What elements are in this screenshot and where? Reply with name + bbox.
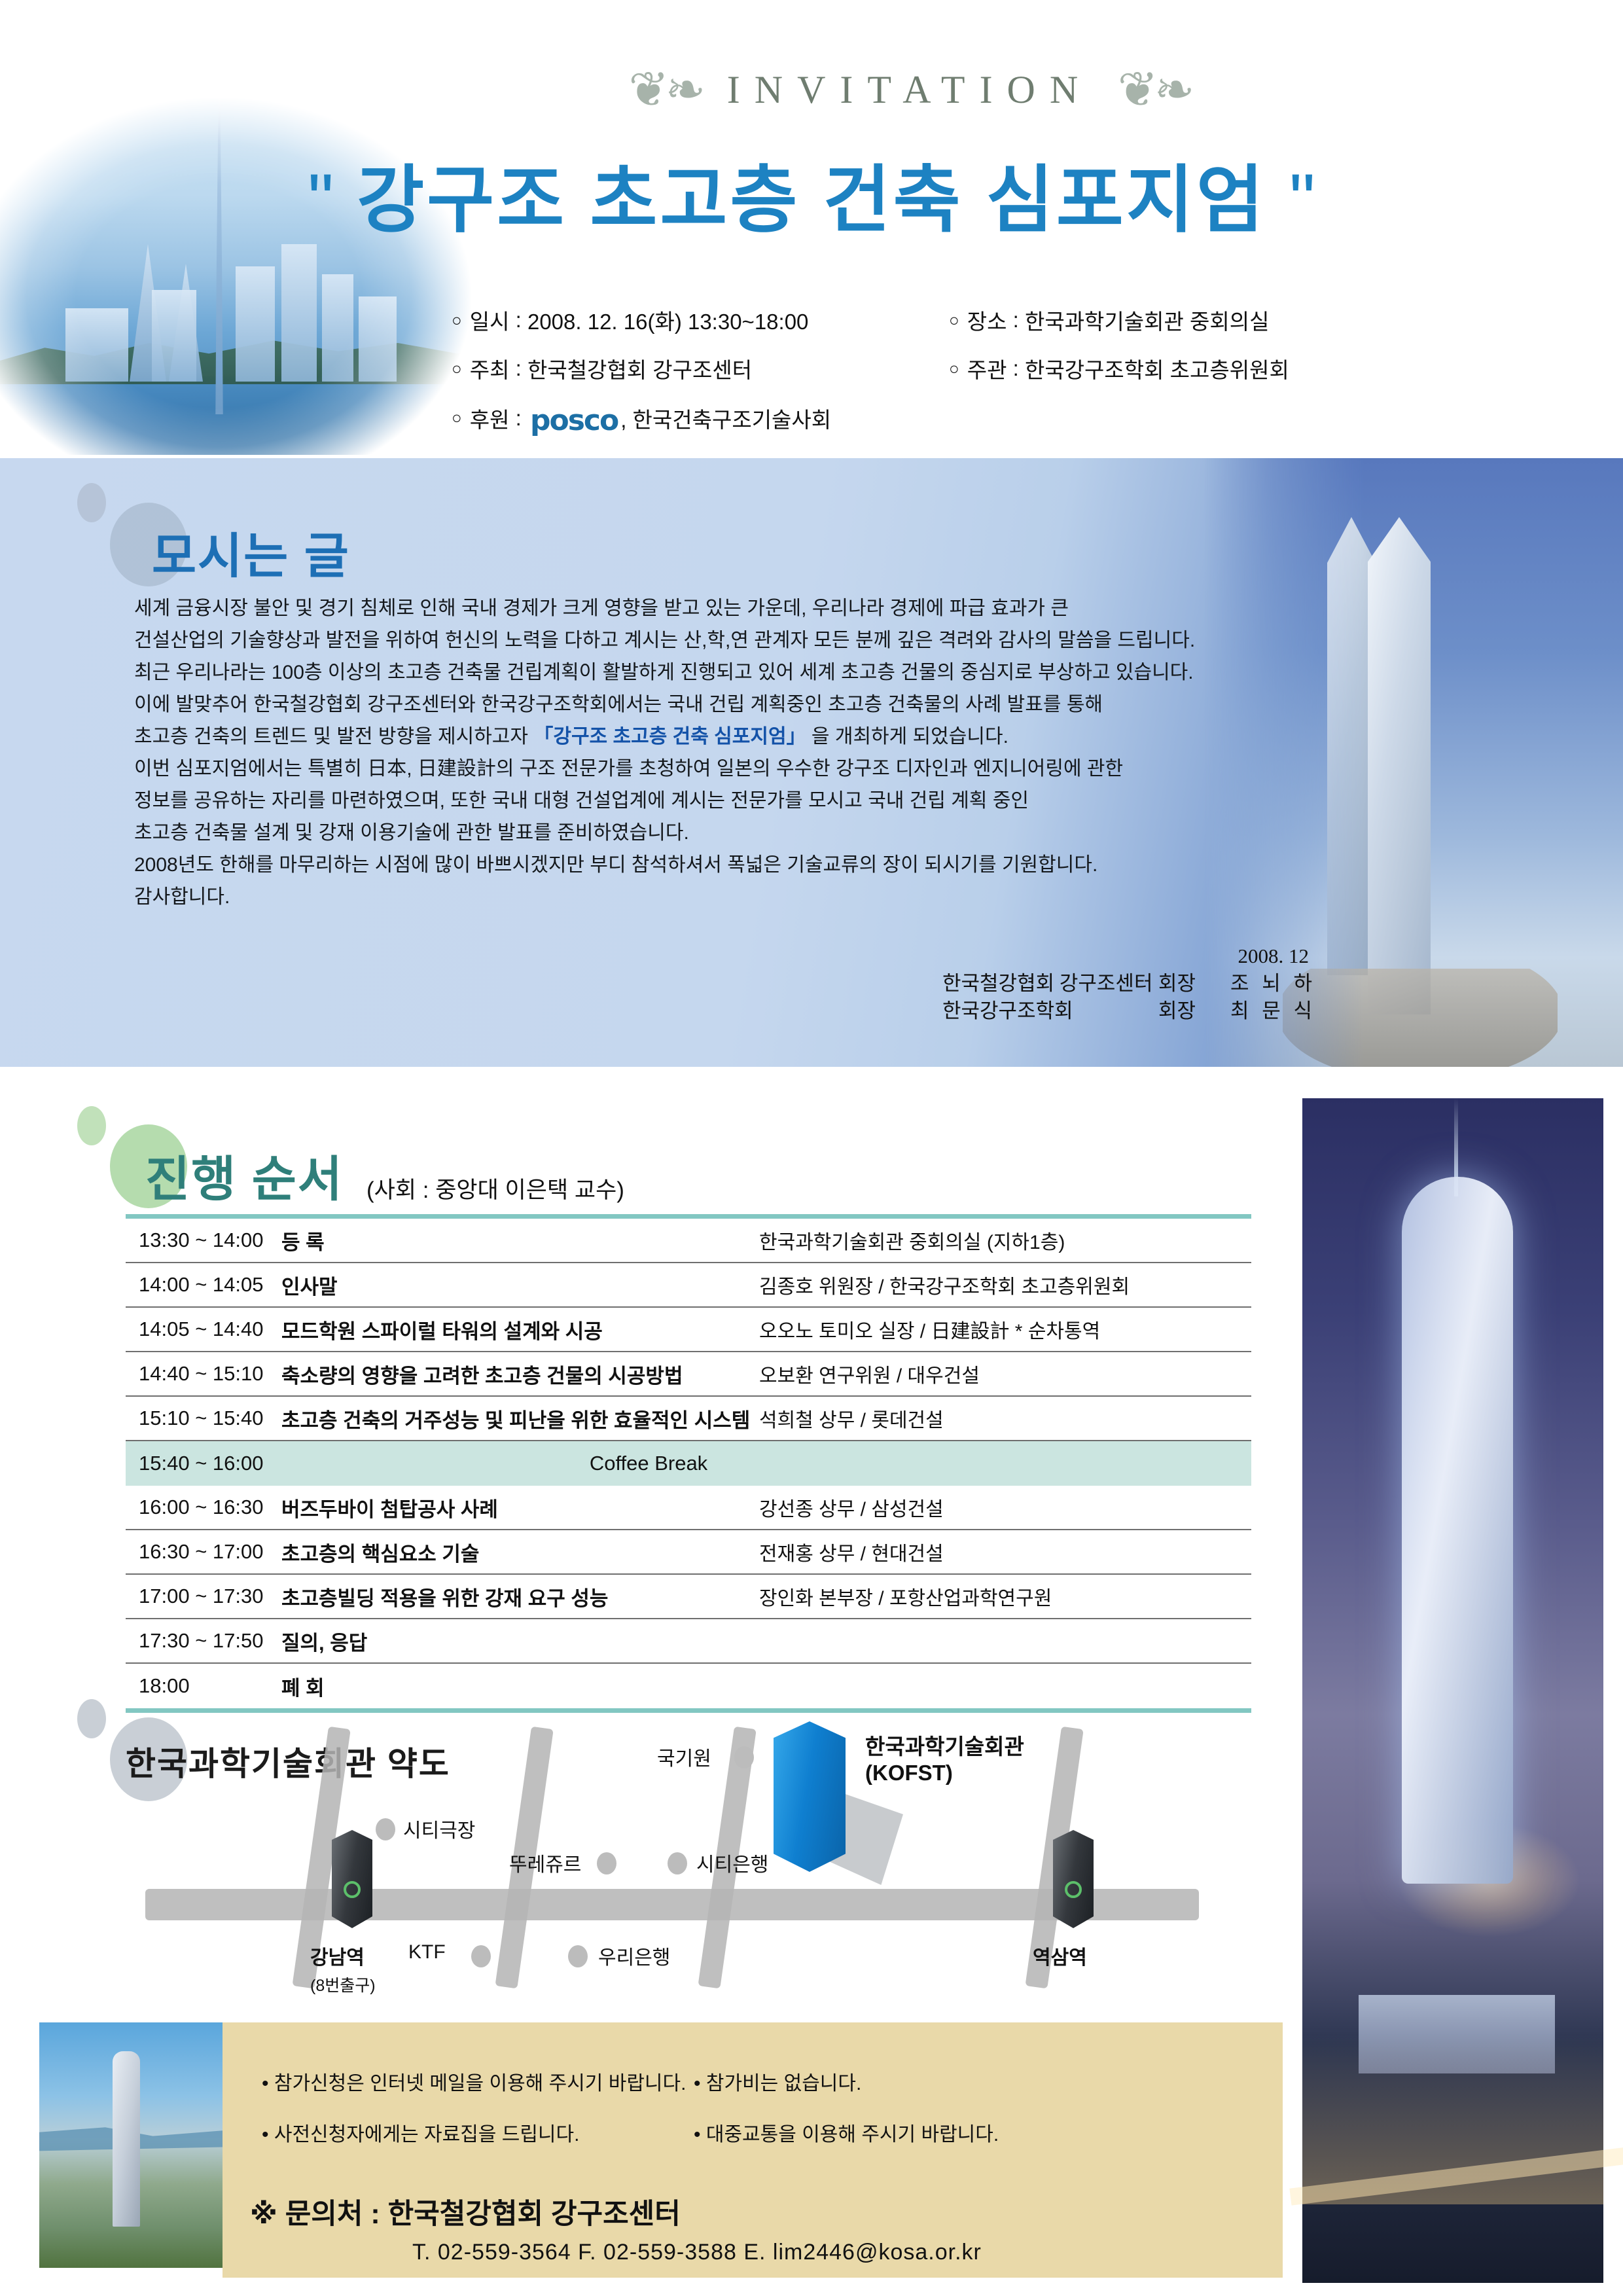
bullet-icon: ○ (949, 359, 959, 379)
map-label-city-theater: 시티극장 (403, 1814, 475, 1843)
signature-block: 2008. 12 한국철강협회 강구조센터 회장 조 뇌 하 한국강구조학회 회… (942, 942, 1309, 1025)
row-time: 16:00 ~ 16:30 (126, 1496, 281, 1519)
signature-row: 한국철강협회 강구조센터 회장 조 뇌 하 (942, 970, 1309, 997)
footer-note: • 참가비는 없습니다. (694, 2067, 1178, 2096)
meta-date-value: 2008. 12. 16(화) 13:30~18:00 (527, 304, 808, 336)
footer-note: • 대중교통을 이용해 주시기 바랍니다. (694, 2118, 1178, 2147)
meta-sponsor: ○ 후원 : posco , 한국건축구조기술사회 (452, 401, 831, 435)
map-dot-city-theater (376, 1818, 395, 1840)
row-time: 17:00 ~ 17:30 (126, 1585, 281, 1608)
map-pin-gangnam[interactable] (332, 1830, 372, 1928)
meta-venue-label: 장소 (967, 304, 1007, 336)
footer-note: • 참가신청은 인터넷 메일을 이용해 주시기 바랍니다. (262, 2067, 694, 2096)
signature-name: 조 뇌 하 (1230, 970, 1309, 997)
bullet-icon: ○ (949, 310, 959, 331)
row-topic: 인사말 (281, 1270, 759, 1300)
footer-phone-line: T. 02-559-3564 F. 02-559-3588 E. lim2446… (412, 2240, 982, 2265)
footer-note-text: 참가비는 없습니다. (706, 2073, 861, 2094)
bullet-dot-icon: • (262, 2124, 269, 2145)
hero-block-f (359, 296, 397, 382)
invitation-label: INVITATION (727, 67, 1092, 113)
program-table: 13:30 ~ 14:00 등 록 한국과학기술회관 중회의실 (지하1층) 1… (126, 1214, 1251, 1713)
row-speaker: 오오노 토미오 실장 / 日建設計 * 순차통역 (759, 1315, 1251, 1344)
row-topic: 모드학원 스파이럴 타워의 설계와 시공 (281, 1315, 759, 1344)
signature-role: 회장 (1158, 970, 1230, 997)
row-speaker: 강선종 상무 / 삼성건설 (759, 1493, 1251, 1522)
table-row: 15:10 ~ 15:40 초고층 건축의 거주성능 및 피난을 위한 효율적인… (126, 1397, 1251, 1441)
map-label-tous: 뚜레쥬르 (509, 1848, 581, 1877)
row-speaker: 석희철 상무 / 롯데건설 (759, 1404, 1251, 1433)
invitation-banner: ❦❧ INVITATION ❦❧ (458, 65, 1361, 114)
footer-notes: • 참가신청은 인터넷 메일을 이용해 주시기 바랍니다. • 참가비는 없습니… (262, 2067, 1243, 2169)
poster-root: ❦❧ INVITATION ❦❧ " 강구조 초고층 건축 심포지엄 " ○ 일… (0, 0, 1623, 2296)
row-topic: 초고층의 핵심요소 기술 (281, 1537, 759, 1567)
row-time: 13:30 ~ 14:00 (126, 1229, 281, 1252)
row-topic: 질의, 응답 (281, 1626, 759, 1656)
hero-water (0, 376, 497, 455)
night-tower (1402, 1177, 1513, 1884)
footer-info-box: • 참가신청은 인터넷 메일을 이용해 주시기 바랍니다. • 참가비는 없습니… (223, 2022, 1283, 2278)
greeting-line: 이에 발맞추어 한국철강협회 강구조센터와 한국강구조학회에서는 국내 건립 계… (134, 689, 1247, 721)
meta-date: ○ 일시 : 2008. 12. 16(화) 13:30~18:00 (452, 304, 949, 336)
map-dot-tous (597, 1852, 616, 1874)
greeting-line-post: 을 개최하게 되었습니다. (806, 726, 1008, 747)
map-dot-citibank (668, 1852, 687, 1874)
row-time: 16:30 ~ 17:00 (126, 1540, 281, 1564)
bullet-dot-icon: • (262, 2073, 269, 2094)
night-tower-image (1302, 1098, 1603, 2283)
table-row: 17:30 ~ 17:50 질의, 응답 (126, 1619, 1251, 1664)
row-topic: 초고층 건축의 거주성능 및 피난을 위한 효율적인 시스템 (281, 1404, 759, 1433)
row-speaker: 김종호 위원장 / 한국강구조학회 초고층위원회 (759, 1270, 1251, 1299)
meta-organizer: ○ 주관 : 한국강구조학회 초고층위원회 (949, 353, 1472, 384)
city-glow (1302, 2034, 1603, 2204)
bullet-icon: ○ (452, 359, 462, 379)
meta-sponsor-rest: , 한국건축구조기술사회 (620, 403, 831, 434)
map-label-yeoksam: 역삼역 (1033, 1941, 1087, 1970)
footer-note-row: • 참가신청은 인터넷 메일을 이용해 주시기 바랍니다. • 참가비는 없습니… (262, 2067, 1243, 2096)
greeting-line: 초고층 건축물 설계 및 강재 이용기술에 관한 발표를 준비하였습니다. (134, 817, 1247, 849)
signature-org: 한국강구조학회 (942, 997, 1158, 1025)
greeting-line: 정보를 공유하는 자리를 마련하였으며, 또한 국내 대형 건설업계에 계시는 … (134, 785, 1247, 817)
row-time: 15:10 ~ 15:40 (126, 1407, 281, 1430)
footer-note: • 사전신청자에게는 자료집을 드립니다. (262, 2118, 694, 2147)
page-title: " 강구조 초고층 건축 심포지엄 " (0, 141, 1623, 247)
title-open-quote: " (308, 159, 334, 241)
kofst-building-icon (774, 1721, 846, 1872)
symposium-highlight: 「강구조 초고층 건축 심포지엄」 (533, 726, 806, 747)
row-topic: 버즈두바이 첨탑공사 사례 (281, 1493, 759, 1522)
meta-host: ○ 주최 : 한국철강협회 강구조센터 (452, 353, 949, 384)
greeting-plaza (1283, 969, 1558, 1067)
row-time: 14:00 ~ 14:05 (126, 1273, 281, 1297)
row-time: 17:30 ~ 17:50 (126, 1629, 281, 1653)
map-label-woori: 우리은행 (598, 1941, 670, 1970)
hero-block-c (236, 266, 275, 382)
footer-note-text: 참가신청은 인터넷 메일을 이용해 주시기 바랍니다. (274, 2073, 687, 2094)
meta-row-1: ○ 일시 : 2008. 12. 16(화) 13:30~18:00 ○ 장소 … (452, 304, 1499, 336)
map-blob-small (77, 1699, 106, 1738)
bullet-icon: ○ (452, 408, 462, 428)
map-dot-ktf (471, 1945, 491, 1967)
meta-organizer-label: 주관 (967, 353, 1007, 384)
meta-host-value: 한국철강협회 강구조센터 (527, 353, 752, 384)
greeting-blob-small (77, 483, 106, 522)
signature-name: 최 문 식 (1230, 997, 1309, 1025)
map-label-venue-sub: (KOFST) (865, 1761, 953, 1785)
table-row: 13:30 ~ 14:00 등 록 한국과학기술회관 중회의실 (지하1층) (126, 1219, 1251, 1263)
footer-note-text: 대중교통을 이용해 주시기 바랍니다. (706, 2124, 999, 2145)
meta-venue: ○ 장소 : 한국과학기술회관 중회의실 (949, 304, 1472, 336)
program-blob-small (77, 1106, 106, 1145)
row-time: 14:05 ~ 14:40 (126, 1318, 281, 1341)
footer-note-row: • 사전신청자에게는 자료집을 드립니다. • 대중교통을 이용해 주시기 바랍… (262, 2118, 1243, 2147)
bullet-icon: ○ (452, 310, 462, 331)
flourish-right-icon: ❦❧ (1118, 65, 1191, 114)
signature-row: 한국강구조학회 회장 최 문 식 (942, 997, 1309, 1025)
title-text: 강구조 초고층 건축 심포지엄 (357, 159, 1266, 241)
map-label-ktf: KTF (408, 1941, 446, 1964)
greeting-line: 감사합니다. (134, 881, 1247, 913)
program-heading: 진행 순서 (145, 1140, 344, 1210)
table-row: 17:00 ~ 17:30 초고층빌딩 적용을 위한 강재 요구 성능 장인화 … (126, 1575, 1251, 1619)
bullet-dot-icon: • (694, 2073, 701, 2094)
meta-row-2: ○ 주최 : 한국철강협회 강구조센터 ○ 주관 : 한국강구조학회 초고층위원… (452, 353, 1499, 384)
bullet-dot-icon: • (694, 2124, 701, 2145)
row-speaker: 장인화 본부장 / 포항산업과학연구원 (759, 1582, 1251, 1611)
greeting-line: 건설산업의 기술향상과 발전을 위하여 헌신의 노력을 다하고 계시는 산,학,… (134, 624, 1247, 656)
row-time: 14:40 ~ 15:10 (126, 1362, 281, 1386)
meta-venue-value: 한국과학기술회관 중회의실 (1025, 304, 1270, 336)
meta-host-label: 주최 (470, 353, 510, 384)
greeting-heading: 모시는 글 (152, 517, 350, 587)
signature-org: 한국철강협회 강구조센터 (942, 970, 1158, 997)
flourish-left-icon: ❦❧ (628, 65, 702, 114)
map-pin-yeoksam[interactable] (1053, 1830, 1094, 1928)
row-topic: 등 록 (281, 1226, 759, 1255)
meta-date-label: 일시 (470, 304, 510, 336)
row-speaker: 오보환 연구위원 / 대우건설 (759, 1359, 1251, 1388)
row-speaker: 한국과학기술회관 중회의실 (지하1층) (759, 1226, 1251, 1255)
hero-block-b (152, 290, 196, 382)
greeting-line-pre: 초고층 건축의 트렌드 및 발전 방향을 제시하고자 (134, 726, 533, 747)
event-meta-block: ○ 일시 : 2008. 12. 16(화) 13:30~18:00 ○ 장소 … (452, 304, 1499, 452)
header-section: ❦❧ INVITATION ❦❧ " 강구조 초고층 건축 심포지엄 " ○ 일… (0, 0, 1623, 458)
posco-logo: posco (530, 404, 618, 437)
greeting-line: 이번 심포지엄에서는 특별히 日本, 日建設計의 구조 전문가를 초청하여 일본… (134, 753, 1247, 785)
table-row: 14:00 ~ 14:05 인사말 김종호 위원장 / 한국강구조학회 초고층위… (126, 1263, 1251, 1308)
hero-block-e (322, 274, 353, 382)
subway-dot-icon (344, 1881, 361, 1898)
map-label-gangnam: 강남역 (310, 1941, 365, 1970)
title-close-quote: " (1289, 159, 1315, 241)
row-topic: 초고층빌딩 적용을 위한 강재 요구 성능 (281, 1582, 759, 1611)
meta-row-3: ○ 후원 : posco , 한국건축구조기술사회 (452, 401, 1499, 435)
signature-date: 2008. 12 (942, 942, 1309, 970)
map-label-citibank: 시티은행 (696, 1848, 768, 1877)
table-row: 16:30 ~ 17:00 초고층의 핵심요소 기술 전재홍 상무 / 현대건설 (126, 1530, 1251, 1575)
program-moderator: (사회 : 중앙대 이은택 교수) (366, 1172, 624, 1205)
table-row: 14:05 ~ 14:40 모드학원 스파이럴 타워의 설계와 시공 오오노 토… (126, 1308, 1251, 1352)
table-row: 16:00 ~ 16:30 버즈두바이 첨탑공사 사례 강선종 상무 / 삼성건… (126, 1486, 1251, 1530)
map-label-gangnam-exit: (8번출구) (310, 1973, 376, 1996)
footer-note-text: 사전신청자에게는 자료집을 드립니다. (274, 2124, 580, 2145)
location-map: 한국과학기술회관 (KOFST) 국기원 시티극장 뚜레쥬르 시티은행 KTF … (126, 1695, 1251, 2022)
footer-tower-thumbnail (39, 2022, 223, 2268)
greeting-line-highlight: 초고층 건축의 트렌드 및 발전 방향을 제시하고자 「강구조 초고층 건축 심… (134, 721, 1247, 753)
greeting-line: 세계 금융시장 불안 및 경기 침체로 인해 국내 경제가 크게 영향을 받고 … (134, 592, 1247, 624)
map-label-venue: 한국과학기술회관 (865, 1729, 1024, 1761)
map-dot-gukgiwon (734, 1746, 754, 1768)
subway-dot-icon (1065, 1881, 1082, 1898)
map-label-gukgiwon: 국기원 (657, 1742, 711, 1771)
greeting-body: 세계 금융시장 불안 및 경기 침체로 인해 국내 경제가 크게 영향을 받고 … (134, 592, 1247, 913)
row-topic: 축소량의 영향을 고려한 초고층 건물의 시공방법 (281, 1359, 759, 1389)
meta-organizer-value: 한국강구조학회 초고층위원회 (1025, 353, 1289, 384)
footer-contact-line: ※ 문의처 : 한국철강협회 강구조센터 (250, 2191, 681, 2232)
row-topic: Coffee Break (281, 1452, 1251, 1475)
greeting-line: 2008년도 한해를 마무리하는 시점에 많이 바쁘시겠지만 부디 참석하셔서 … (134, 849, 1247, 881)
row-time: 15:40 ~ 16:00 (126, 1452, 281, 1475)
hero-block-a (65, 308, 128, 382)
table-row-coffee-break: 15:40 ~ 16:00 Coffee Break (126, 1441, 1251, 1486)
map-dot-woori (568, 1945, 588, 1967)
row-time: 18:00 (126, 1674, 281, 1698)
signature-role: 회장 (1158, 997, 1230, 1025)
row-speaker: 전재홍 상무 / 현대건설 (759, 1537, 1251, 1566)
table-row: 14:40 ~ 15:10 축소량의 영향을 고려한 초고층 건물의 시공방법 … (126, 1352, 1251, 1397)
thumbnail-tower (113, 2051, 140, 2227)
meta-sponsor-label: 후원 (470, 403, 510, 434)
greeting-tower-b (1368, 517, 1431, 1014)
hero-block-d (281, 244, 317, 382)
greeting-line: 최근 우리나라는 100층 이상의 초고층 건축물 건립계획이 활발하게 진행되… (134, 656, 1247, 689)
